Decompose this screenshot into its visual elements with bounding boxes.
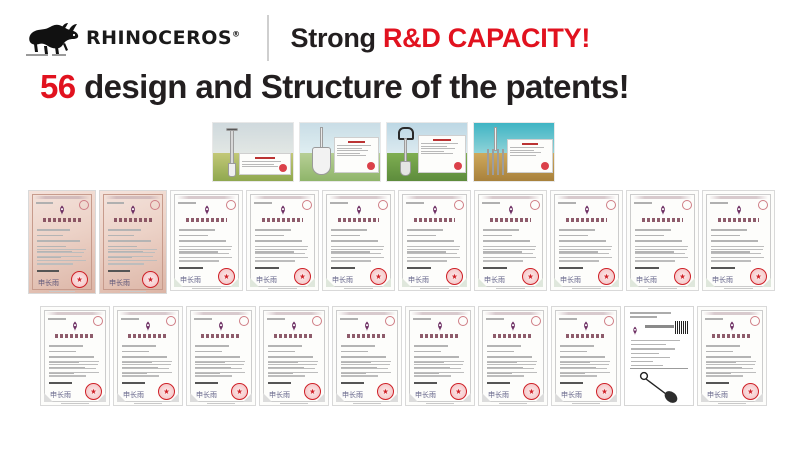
- certificate-text-line: [414, 368, 461, 369]
- certificate-header-ornament: [405, 196, 465, 199]
- certificate-design-7[interactable]: 申长雨: [478, 306, 548, 406]
- certificate-corner-stamp-icon: [150, 200, 160, 210]
- overlay-seal-icon: [541, 162, 549, 170]
- photo-certificate-4[interactable]: [473, 122, 555, 182]
- certificate-title: [698, 334, 766, 338]
- patent-separator-rule: [630, 368, 688, 369]
- patent-document-header: [630, 312, 688, 320]
- certificate-text-line: [706, 356, 751, 358]
- certificate-rule: [706, 382, 729, 385]
- certificate-text-line: [635, 229, 671, 231]
- certificate-text-line: [341, 361, 391, 362]
- certificate-header-ornament: [338, 312, 395, 315]
- overlay-line: [421, 143, 458, 144]
- meta-line: [631, 361, 653, 362]
- certificate-red-seal-icon: [446, 268, 463, 285]
- certificate-corner-stamp-icon: [239, 316, 249, 326]
- certificate-number: [48, 318, 66, 320]
- certificate-text-line: [341, 375, 378, 376]
- certificate-text-line: [635, 253, 685, 254]
- certificate-header-ornament: [119, 312, 176, 315]
- certificate-text-line: [195, 368, 242, 369]
- certificate-corner-stamp-icon: [606, 200, 616, 210]
- certificate-text-line: [407, 246, 460, 247]
- certificate-header-ornament: [709, 196, 769, 199]
- page-title: 56 design and Structure of the patents!: [40, 68, 629, 106]
- certificate-text-line: [483, 235, 512, 237]
- certificate-title: [29, 218, 95, 222]
- photo-certificate-2[interactable]: [299, 122, 381, 182]
- certificate-paragraph: [108, 249, 158, 267]
- certificate-red-seal-icon: [596, 383, 613, 400]
- certificate-text-line: [560, 372, 610, 373]
- patent-office-emblem-icon: [658, 205, 667, 216]
- certificate-text-line: [560, 351, 587, 353]
- certificate-footer-ornament: [552, 403, 620, 405]
- certificate-corner-stamp-icon: [530, 200, 540, 210]
- certificate-text-line: [195, 375, 232, 376]
- certificate-text-line: [331, 260, 371, 261]
- certificate-signature: 申长雨: [561, 392, 582, 399]
- certificate-rule: [560, 382, 583, 385]
- certificate-number: [559, 318, 577, 320]
- certificate-corner-stamp-icon: [758, 200, 768, 210]
- certificate-text-line: [487, 368, 534, 369]
- certificate-text-line: [483, 229, 519, 231]
- overlay-line: [421, 151, 444, 152]
- certificate-text-line: [414, 356, 459, 358]
- certificate-text-line: [559, 246, 612, 247]
- spade-blade-icon: [228, 163, 236, 177]
- certificate-text-line: [635, 240, 682, 242]
- certificate-text-line: [49, 368, 96, 369]
- certificate-corner-stamp-icon: [302, 200, 312, 210]
- certificate-text-line: [331, 235, 360, 237]
- certificate-text-line: [37, 229, 70, 231]
- certificate-number: [121, 318, 139, 320]
- certificate-text-line: [560, 364, 609, 365]
- certificate-text-line: [341, 372, 391, 373]
- registered-mark-icon: ®: [232, 29, 241, 38]
- photo-sky: [213, 123, 293, 153]
- certificate-text-line: [255, 246, 308, 247]
- certificate-text-line: [122, 356, 167, 358]
- meta-line: [631, 365, 663, 366]
- certificate-text-line: [331, 257, 384, 258]
- certificate-text-line: [706, 372, 756, 373]
- certificate-header-ornament: [411, 312, 468, 315]
- certificate-text-line: [179, 240, 226, 242]
- certificate-text-line: [122, 368, 169, 369]
- certificate-signature: 申长雨: [180, 277, 201, 284]
- certificate-text-line: [195, 364, 244, 365]
- certificate-text-line: [37, 249, 86, 250]
- certificate-text-line: [560, 375, 597, 376]
- certificate-signature: 申长雨: [488, 392, 509, 399]
- certificate-text-line: [706, 375, 743, 376]
- certificate-text-line: [195, 361, 245, 362]
- certificate-header-ornament: [557, 312, 614, 315]
- certificate-corner-stamp-icon: [385, 316, 395, 326]
- certificate-text-line: [37, 263, 73, 264]
- fork-tine-icon: [487, 149, 489, 175]
- certificate-design-3[interactable]: 申长雨: [186, 306, 256, 406]
- fork-tine-icon: [497, 149, 499, 175]
- certificate-text-line: [407, 240, 454, 242]
- certificate-text-line: [37, 256, 82, 257]
- certificate-title: [247, 218, 318, 222]
- patent-office-emblem-icon: [278, 205, 287, 216]
- certificate-number: [558, 202, 576, 204]
- certificate-rule: [179, 267, 203, 270]
- patent-office-emblem-icon: [354, 205, 363, 216]
- certificate-paragraph: [331, 246, 386, 264]
- meta-line: [631, 344, 666, 345]
- overlay-line: [337, 145, 371, 146]
- certificate-design-2[interactable]: 申长雨: [113, 306, 183, 406]
- overlay-line: [510, 152, 541, 153]
- certificate-title: [479, 334, 547, 338]
- certificate-text-line: [195, 351, 222, 353]
- certificate-text-line: [711, 257, 764, 258]
- certificate-footer-ornament: [627, 288, 698, 290]
- certificate-red-seal-icon: [231, 383, 248, 400]
- certificate-text-line: [635, 235, 664, 237]
- certificate-text-line: [122, 361, 172, 362]
- certificate-text-line: [179, 249, 231, 250]
- certificate-signature: 申长雨: [269, 392, 290, 399]
- meta-line: [631, 348, 675, 349]
- certificate-footer-ornament: [260, 403, 328, 405]
- certificate-text-line: [122, 351, 149, 353]
- certificate-design-8[interactable]: 申长雨: [551, 306, 621, 406]
- certificate-footer-ornament: [171, 288, 242, 290]
- photo-cert-overlay: [334, 137, 379, 173]
- patent-office-emblem-icon: [363, 321, 372, 332]
- certificate-title: [41, 334, 109, 338]
- certificate-text-line: [49, 351, 76, 353]
- certificate-corner-stamp-icon: [226, 200, 236, 210]
- photo-certificate-3[interactable]: [386, 122, 468, 182]
- certificate-number: [107, 202, 124, 204]
- certificate-paragraph: [268, 361, 320, 379]
- certificate-text-line: [487, 364, 536, 365]
- certificate-text-line: [179, 235, 208, 237]
- patent-office-emblem-icon: [506, 205, 515, 216]
- certificate-footer-ornament: [29, 291, 95, 293]
- patent-office-emblem-icon: [509, 321, 518, 332]
- certificate-text-line: [122, 345, 156, 347]
- overlay-line: [421, 148, 455, 149]
- patent-drawing-page[interactable]: [624, 306, 694, 406]
- patent-office-emblem-icon: [290, 321, 299, 332]
- brand-row: RHINOCEROS® Strong R&D CAPACITY!: [22, 14, 590, 62]
- certificate-rule: [635, 267, 659, 270]
- certificate-text-line: [711, 229, 747, 231]
- certificate-footer-ornament: [114, 403, 182, 405]
- certificate-text-line: [37, 252, 84, 253]
- certificate-corner-stamp-icon: [682, 200, 692, 210]
- certificate-title: [399, 218, 470, 222]
- certificate-signature: 申长雨: [560, 277, 581, 284]
- certificate-text-line: [108, 246, 137, 248]
- certificate-header-ornament: [177, 196, 237, 199]
- certificate-text-line: [37, 246, 66, 248]
- certificate-header-ornament: [633, 196, 693, 199]
- certificate-text-line: [711, 246, 764, 247]
- certificate-header-ornament: [557, 196, 617, 199]
- certificate-design-1[interactable]: 申长雨: [40, 306, 110, 406]
- photo-certificate-1[interactable]: [212, 122, 294, 182]
- round-shovel-blade-icon: [312, 147, 331, 175]
- overlay-seal-icon: [279, 164, 287, 172]
- certificate-design-9[interactable]: 申长雨: [697, 306, 767, 406]
- certificate-rule: [483, 267, 507, 270]
- certificate-utility-3[interactable]: 申长雨: [322, 190, 395, 291]
- certificate-text-line: [108, 252, 155, 253]
- certificate-rule: [414, 382, 437, 385]
- certificate-utility-7[interactable]: 申长雨: [626, 190, 699, 291]
- overlay-title: [522, 143, 539, 145]
- certificate-text-line: [268, 361, 318, 362]
- certificate-footer-ornament: [333, 403, 401, 405]
- certificate-signature: 申长雨: [38, 280, 59, 287]
- certificate-number: [330, 202, 348, 204]
- certificate-footer-ornament: [406, 403, 474, 405]
- certificate-text-line: [407, 260, 447, 261]
- certificate-text-line: [414, 375, 451, 376]
- certificate-text-line: [635, 246, 688, 247]
- overlay-seal-icon: [367, 162, 375, 170]
- certificate-text-line: [49, 345, 83, 347]
- certificate-utility-6[interactable]: 申长雨: [550, 190, 623, 291]
- certificate-number: [486, 318, 504, 320]
- patent-office-emblem-icon: [436, 321, 445, 332]
- certificate-text-line: [706, 361, 756, 362]
- certificate-paragraph: [122, 361, 174, 379]
- photo-cert-overlay: [418, 135, 466, 173]
- overlay-line: [337, 148, 362, 149]
- certificate-text-line: [483, 260, 523, 261]
- tagline: Strong R&D CAPACITY!: [291, 23, 590, 54]
- certificate-number: [406, 202, 424, 204]
- certificate-invention-2[interactable]: 申长雨: [99, 190, 167, 294]
- certificate-text-line: [341, 351, 368, 353]
- certificate-corner-stamp-icon: [454, 200, 464, 210]
- certificate-corner-stamp-icon: [79, 200, 89, 210]
- logo-wordmark: RHINOCEROS®: [86, 29, 241, 48]
- overlay-line: [421, 146, 447, 147]
- certificate-text-line: [255, 235, 284, 237]
- certificate-text-line: [255, 229, 291, 231]
- tagline-accent: R&D CAPACITY!: [383, 23, 590, 53]
- certificate-rule: [559, 267, 583, 270]
- certificate-utility-8[interactable]: 申长雨: [702, 190, 775, 291]
- certificate-text-line: [414, 351, 441, 353]
- overlay-line: [242, 166, 278, 167]
- certificate-footer-ornament: [323, 288, 394, 290]
- certificate-signature: 申长雨: [707, 392, 728, 399]
- patent-count: 56: [40, 68, 76, 105]
- certificate-text-line: [108, 249, 157, 250]
- tagline-lead: Strong: [291, 23, 383, 53]
- certificate-text-line: [560, 368, 607, 369]
- certificate-red-seal-icon: [304, 383, 321, 400]
- certificate-red-seal-icon: [294, 268, 311, 285]
- certificate-footer-ornament: [551, 288, 622, 290]
- certificate-text-line: [268, 368, 315, 369]
- certificate-rule: [255, 267, 279, 270]
- certificate-text-line: [711, 260, 751, 261]
- header-line: [630, 312, 671, 314]
- certificate-text-line: [706, 345, 740, 347]
- certificate-paragraph: [255, 246, 310, 264]
- certificate-rule: [122, 382, 145, 385]
- certificate-text-line: [414, 361, 464, 362]
- certificate-signature: 申长雨: [415, 392, 436, 399]
- overlay-line: [242, 161, 281, 162]
- certificate-invention-1[interactable]: 申长雨: [28, 190, 96, 294]
- certificate-header-ornament: [329, 196, 389, 199]
- certificate-signature: 申长雨: [712, 277, 733, 284]
- certificate-text-line: [559, 253, 609, 254]
- certificate-paragraph: [560, 361, 612, 379]
- certificate-utility-4[interactable]: 申长雨: [398, 190, 471, 291]
- certificate-red-seal-icon: [218, 268, 235, 285]
- certificate-text-line: [255, 260, 295, 261]
- certificate-number: [36, 202, 53, 204]
- certificate-text-line: [483, 253, 533, 254]
- certificate-paragraph: [706, 361, 758, 379]
- certificate-title: [100, 218, 166, 222]
- certificate-corner-stamp-icon: [458, 316, 468, 326]
- certificate-corner-stamp-icon: [604, 316, 614, 326]
- certificate-text-line: [559, 240, 606, 242]
- certificate-text-line: [122, 375, 159, 376]
- certificate-text-line: [341, 345, 375, 347]
- certificate-utility-2[interactable]: 申长雨: [246, 190, 319, 291]
- certificate-utility-5[interactable]: 申长雨: [474, 190, 547, 291]
- certificate-text-line: [711, 235, 740, 237]
- overlay-line: [337, 153, 360, 154]
- certificate-text-line: [255, 257, 308, 258]
- certificate-title: [475, 218, 546, 222]
- certificate-design-6[interactable]: 申长雨: [405, 306, 475, 406]
- spade-grip-icon: [226, 128, 238, 131]
- certificate-text-line: [407, 229, 443, 231]
- certificate-red-seal-icon: [450, 383, 467, 400]
- certificate-title: [323, 218, 394, 222]
- certificate-design-4[interactable]: 申长雨: [259, 306, 329, 406]
- certificate-red-seal-icon: [370, 268, 387, 285]
- certificate-number: [267, 318, 285, 320]
- certificate-signature: 申长雨: [342, 392, 363, 399]
- certificate-text-line: [108, 240, 151, 242]
- patent-office-emblem-icon: [144, 321, 153, 332]
- certificate-text-line: [711, 249, 763, 250]
- certificate-red-seal-icon: [142, 271, 159, 288]
- certificate-text-line: [37, 240, 80, 242]
- certificate-title: [627, 218, 698, 222]
- certificate-corner-stamp-icon: [750, 316, 760, 326]
- certificate-text-line: [560, 361, 610, 362]
- patent-document-title: [645, 325, 674, 328]
- certificate-corner-stamp-icon: [531, 316, 541, 326]
- photo-cert-overlay: [507, 139, 553, 173]
- certificate-text-line: [255, 249, 307, 250]
- shovel-drawing-icon: [625, 370, 693, 401]
- certificate-title: [187, 334, 255, 338]
- certificate-design-5[interactable]: 申长雨: [332, 306, 402, 406]
- certificate-red-seal-icon: [71, 271, 88, 288]
- certificate-text-line: [108, 256, 153, 257]
- certificate-text-line: [179, 246, 232, 247]
- patent-office-emblem-icon: [129, 205, 138, 216]
- patent-office-emblem-icon: [71, 321, 80, 332]
- certificate-utility-1[interactable]: 申长雨: [170, 190, 243, 291]
- certificate-paragraph: [483, 246, 538, 264]
- overlay-line: [510, 147, 544, 148]
- certificate-title: [406, 334, 474, 338]
- certificate-rule: [331, 267, 355, 270]
- certificate-text-line: [407, 253, 457, 254]
- photo-cert-overlay: [239, 153, 291, 175]
- certificate-number: [340, 318, 358, 320]
- certificate-text-line: [635, 249, 687, 250]
- certificate-paragraph: [635, 246, 690, 264]
- certificate-text-line: [268, 375, 305, 376]
- certificate-header-ornament: [34, 196, 89, 199]
- certificate-number: [178, 202, 196, 204]
- certificate-text-line: [341, 356, 386, 358]
- certificate-signature: 申长雨: [256, 277, 277, 284]
- certificate-text-line: [706, 364, 755, 365]
- certificate-header-ornament: [265, 312, 322, 315]
- certificate-rule: [407, 267, 431, 270]
- certificate-text-line: [49, 364, 98, 365]
- certificate-rule: [268, 382, 291, 385]
- certificate-red-seal-icon: [742, 383, 759, 400]
- certificate-title: [114, 334, 182, 338]
- certificate-corner-stamp-icon: [312, 316, 322, 326]
- certificate-text-line: [487, 356, 532, 358]
- patent-office-emblem-icon: [734, 205, 743, 216]
- certificate-signature: 申长雨: [50, 392, 71, 399]
- certificate-text-line: [331, 249, 383, 250]
- certificate-text-line: [331, 229, 367, 231]
- certificate-text-line: [483, 257, 536, 258]
- banner-header: RHINOCEROS® Strong R&D CAPACITY! 56 desi…: [0, 0, 800, 118]
- certificate-number: [413, 318, 431, 320]
- certificate-number: [254, 202, 272, 204]
- certificate-rule: [487, 382, 510, 385]
- certificate-text-line: [108, 263, 144, 264]
- certificate-title: [703, 218, 774, 222]
- certificate-rule: [37, 270, 59, 273]
- certificate-text-line: [487, 361, 537, 362]
- certificate-text-line: [108, 235, 134, 237]
- certificate-number: [634, 202, 652, 204]
- certificate-paragraph: [407, 246, 462, 264]
- certificate-text-line: [407, 235, 436, 237]
- certificate-header-ornament: [484, 312, 541, 315]
- certificate-signature: 申长雨: [484, 277, 505, 284]
- certificate-text-line: [487, 372, 537, 373]
- certificate-text-line: [49, 372, 99, 373]
- certificate-text-line: [331, 246, 384, 247]
- certificate-header-ornament: [105, 196, 160, 199]
- certificate-title: [551, 218, 622, 222]
